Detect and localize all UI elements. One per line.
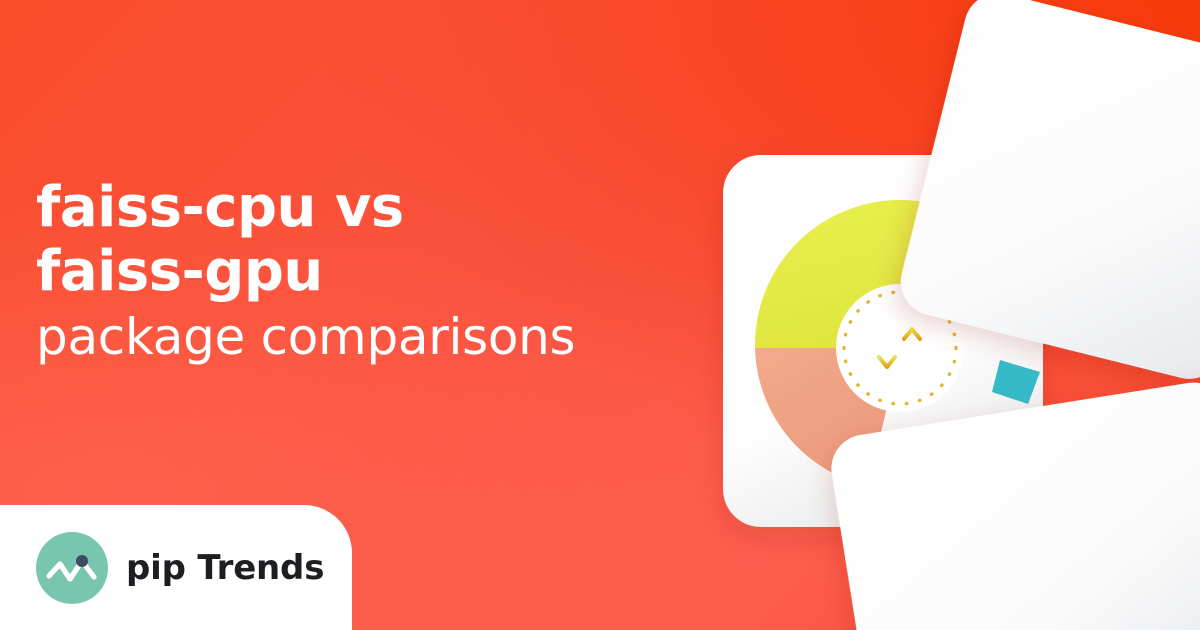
- headline-block: faiss-cpu vs faiss-gpu package compariso…: [36, 176, 696, 366]
- brand-name: pip Trends: [126, 548, 324, 588]
- line-chart-logo-icon: [36, 532, 108, 604]
- page-title: faiss-cpu vs faiss-gpu: [36, 176, 696, 304]
- page-subtitle: package comparisons: [36, 308, 696, 366]
- brand-panel[interactable]: pip Trends: [0, 505, 352, 630]
- share-card: faiss-cpu vs faiss-gpu package compariso…: [0, 0, 1200, 630]
